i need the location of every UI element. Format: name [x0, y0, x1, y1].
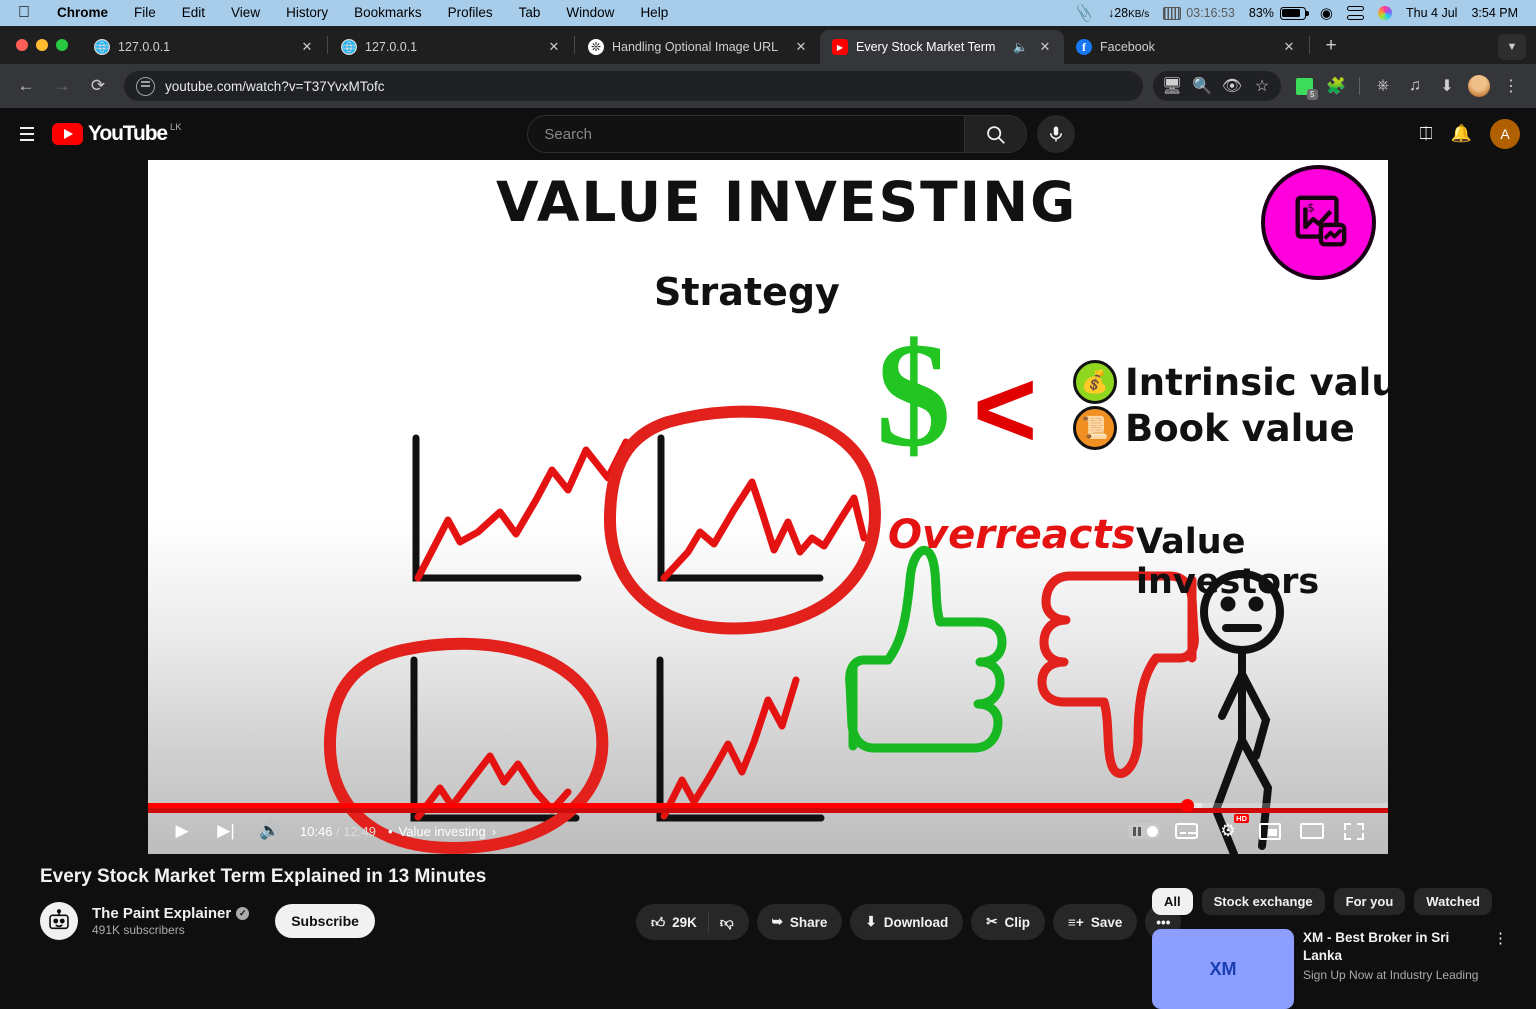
subscriber-count: 491K subscribers [92, 923, 249, 937]
clip-label: Clip [1005, 915, 1031, 930]
close-window-button[interactable] [16, 39, 28, 51]
toolbar-divider [1359, 77, 1360, 95]
profile-avatar[interactable] [1464, 71, 1494, 101]
close-icon[interactable]: ✕ [1036, 38, 1054, 56]
energy-saver-icon[interactable]: ⎈ [1368, 71, 1398, 101]
downloads-icon[interactable]: ⬇ [1432, 71, 1462, 101]
chatgpt-icon: ❊ [588, 39, 604, 55]
menu-help[interactable]: Help [627, 0, 681, 26]
time-separator: / [336, 824, 340, 839]
next-track-icon[interactable]: ▶| [206, 811, 246, 851]
chevron-right-icon: › [492, 824, 496, 839]
total-time: 12:49 [343, 824, 376, 839]
close-icon[interactable]: ✕ [298, 38, 316, 56]
quality-badge: HD [1234, 814, 1249, 823]
play-icon[interactable]: ▶ [162, 811, 202, 851]
theater-mode-icon[interactable] [1292, 811, 1332, 851]
current-time: 10:46 [300, 824, 333, 839]
share-label: Share [790, 915, 828, 930]
cast-to-device-icon[interactable]: 🖥 [1157, 71, 1187, 101]
macos-menubar:  Chrome File Edit View History Bookmark… [0, 0, 1536, 26]
chapter-label: Value investing [399, 824, 486, 839]
video-frame: VALUE INVESTING Strategy $ $ < 💰 Intrins… [148, 160, 1388, 854]
value-investors-label: Value investors [1136, 522, 1388, 602]
menu-bookmarks[interactable]: Bookmarks [341, 0, 435, 26]
omnibox-action-pill: 🖥 🔍 👁 ☆ [1153, 71, 1281, 101]
menu-tab[interactable]: Tab [506, 0, 554, 26]
video-headline: VALUE INVESTING [496, 170, 1077, 234]
extension-badge [1296, 78, 1313, 95]
verified-badge-icon: ✓ [236, 907, 249, 920]
save-button[interactable]: ≡+ Save [1053, 904, 1137, 940]
back-button[interactable]: ← [10, 70, 42, 102]
time-display: 10:46 / 12:49 [300, 824, 376, 839]
volume-icon[interactable]: 🔊 [250, 811, 290, 851]
new-tab-button[interactable]: + [1317, 32, 1345, 60]
tab-title: Handling Optional Image URL [612, 40, 784, 54]
account-avatar[interactable]: A [1490, 119, 1520, 149]
tab-divider [327, 36, 328, 54]
menu-window[interactable]: Window [553, 0, 627, 26]
book-value-label: Book value [1125, 407, 1355, 450]
create-video-icon[interactable]: ⎅ [1419, 124, 1433, 144]
channel-avatar-glyph [46, 908, 72, 934]
menu-view[interactable]: View [218, 0, 273, 26]
tab-search-chevron-down-icon[interactable]: ▼ [1498, 34, 1526, 60]
ad-menu-icon[interactable]: ⋮ [1489, 929, 1512, 1009]
channel-name-row[interactable]: The Paint Explainer ✓ [92, 905, 249, 922]
close-icon[interactable]: ✕ [1280, 38, 1298, 56]
less-than-drawing: < [973, 355, 1037, 465]
tab-audio-icon[interactable]: 🔈 [1013, 40, 1028, 54]
youtube-play-icon [52, 123, 83, 145]
url-text: youtube.com/watch?v=T37YvxMTofc [165, 79, 384, 94]
battery-status[interactable]: 83% [1249, 6, 1306, 20]
download-icon: ⬇ [865, 914, 876, 930]
ledger-book-icon: 📜 [1073, 406, 1117, 450]
search-area [527, 115, 1075, 153]
globe-icon: 🌐 [94, 39, 110, 55]
search-box[interactable] [527, 115, 1027, 153]
save-playlist-icon: ≡+ [1068, 915, 1084, 930]
intrinsic-value-label: Intrinsic value [1125, 361, 1388, 404]
save-label: Save [1091, 915, 1123, 930]
minimize-window-button[interactable] [36, 39, 48, 51]
thumbs-up-icon[interactable]: 👍︎ [651, 914, 665, 931]
chapter-title[interactable]: • Value investing › [388, 824, 496, 839]
tab-127-0-0-1-a[interactable]: 🌐 127.0.0.1 ✕ [82, 30, 326, 64]
share-button[interactable]: ➥ Share [757, 904, 843, 940]
thumbs-up-drawing [850, 550, 1002, 748]
intrinsic-value-row: 💰 Intrinsic value [1073, 360, 1388, 404]
thumbs-down-drawing [1042, 576, 1194, 774]
facebook-icon: f [1076, 39, 1092, 55]
extension-grammarly-icon[interactable] [1289, 71, 1319, 101]
channel-name: The Paint Explainer [92, 905, 231, 922]
siri-icon[interactable] [1378, 6, 1392, 20]
timer-icon [1163, 7, 1181, 20]
chip-for-you[interactable]: For you [1334, 888, 1406, 915]
menu-edit[interactable]: Edit [169, 0, 218, 26]
chapter-bullet: • [388, 824, 393, 839]
menu-file[interactable]: File [121, 0, 169, 26]
tab-title: Every Stock Market Term [856, 40, 1005, 54]
gear-icon[interactable]: ⚙HD [1208, 811, 1248, 851]
screen-timer[interactable]: 03:16:53 [1163, 6, 1235, 20]
maximize-window-button[interactable] [56, 39, 68, 51]
autoplay-toggle[interactable] [1124, 811, 1164, 851]
country-code: LK [170, 122, 182, 133]
reload-button[interactable]: ⟳ [82, 70, 114, 102]
menu-history[interactable]: History [273, 0, 341, 26]
tab-handling-optional-image-url[interactable]: ❊ Handling Optional Image URL ✕ [576, 30, 820, 64]
ad-title: XM - Best Broker in Sri Lanka [1303, 929, 1480, 964]
youtube-logo[interactable]: YouTube LK [52, 122, 184, 146]
wifi-icon[interactable]: ◉︎ [1320, 4, 1333, 22]
guide-menu-button[interactable] [16, 119, 38, 149]
video-player[interactable]: VALUE INVESTING Strategy $ $ < 💰 Intrins… [148, 160, 1388, 854]
svg-text:$: $ [1307, 200, 1314, 214]
tab-divider [1309, 36, 1310, 54]
video-stage: VALUE INVESTING Strategy $ $ < 💰 Intrins… [0, 160, 1536, 854]
control-center-icon[interactable] [1347, 6, 1364, 20]
channel-info: The Paint Explainer ✓ 491K subscribers [92, 905, 249, 937]
scissors-icon: ✂ [986, 914, 997, 930]
youtube-wordmark: YouTube [88, 122, 167, 146]
address-bar[interactable]: youtube.com/watch?v=T37YvxMTofc [124, 71, 1143, 101]
toolbar-actions: 🖥 🔍 👁 ☆ 🧩 ⎈ ♫ ⬇ ⋮ [1153, 71, 1526, 101]
tab-127-0-0-1-b[interactable]: 🌐 127.0.0.1 ✕ [329, 30, 573, 64]
tab-facebook[interactable]: f Facebook ✕ [1064, 30, 1308, 64]
badge-glyph: $ [1288, 192, 1350, 254]
window-controls [12, 26, 82, 64]
youtube-masthead: YouTube LK ⎅ 🔔 A [0, 108, 1536, 160]
tab-divider [574, 36, 575, 54]
tab-title: Facebook [1100, 40, 1272, 54]
network-speed[interactable]: ↓28KB/s [1108, 6, 1149, 20]
ad-thumbnail[interactable]: XM [1152, 929, 1294, 1009]
media-playlist-icon[interactable]: ♫ [1400, 71, 1430, 101]
robot-tv-icon[interactable] [40, 902, 78, 940]
dollar-sign-drawing: $ [876, 320, 951, 470]
book-value-row: 📜 Book value [1073, 406, 1355, 450]
site-settings-icon[interactable] [136, 77, 155, 96]
tab-list: 🌐 127.0.0.1 ✕ 🌐 127.0.0.1 ✕ ❊ Handling O… [82, 26, 1498, 64]
menubar-date[interactable]: Thu 4 Jul [1406, 6, 1457, 20]
close-icon[interactable]: ✕ [545, 38, 563, 56]
player-controls: ▶ ▶| 🔊 10:46 / 12:49 • Value investing ›… [148, 808, 1388, 854]
close-icon[interactable]: ✕ [792, 38, 810, 56]
stock-chart-icon: $ [1261, 165, 1376, 280]
subscribe-button[interactable]: Subscribe [275, 904, 375, 938]
notifications-bell-icon[interactable]: 🔔 [1451, 124, 1472, 144]
chrome-tab-strip: 🌐 127.0.0.1 ✕ 🌐 127.0.0.1 ✕ ❊ Handling O… [0, 26, 1536, 64]
search-input[interactable] [528, 126, 964, 143]
tab-title: 127.0.0.1 [365, 40, 537, 54]
overreacts-label: Overreacts [888, 512, 1135, 558]
thumbs-down-icon[interactable]: 👎︎ [720, 914, 734, 931]
chrome-menu-icon[interactable]: ⋮ [1496, 71, 1526, 101]
money-hand-icon: 💰 [1073, 360, 1117, 404]
closed-captions-icon[interactable] [1166, 811, 1206, 851]
like-count: 29K [672, 915, 697, 930]
eye-off-incognito-icon[interactable]: 👁 [1217, 71, 1247, 101]
search-button[interactable] [964, 116, 1026, 152]
clip-button[interactable]: ✂ Clip [971, 904, 1045, 940]
filter-chips: All Stock exchange For you Watched [1152, 888, 1512, 915]
page-title: Every Stock Market Term Explained in 13 … [40, 866, 1090, 888]
menu-profiles[interactable]: Profiles [435, 0, 506, 26]
recommendations-rail: All Stock exchange For you Watched XM XM… [1136, 888, 1536, 1009]
paperclip-icon[interactable]: 📎 [1074, 2, 1096, 23]
masthead-actions: ⎅ 🔔 A [1419, 119, 1520, 149]
share-arrow-icon: ➥ [772, 914, 783, 930]
like-dislike-group: 👍︎ 29K 👎︎ [636, 904, 749, 940]
globe-icon: 🌐 [341, 39, 357, 55]
download-label: Download [884, 915, 949, 930]
menubar-items:  Chrome File Edit View History Bookmark… [12, 0, 681, 26]
chip-stock-exchange[interactable]: Stock exchange [1202, 888, 1325, 915]
battery-icon [1280, 7, 1306, 20]
video-subheadline: Strategy [654, 270, 840, 314]
youtube-icon: ▶ [832, 39, 848, 55]
chrome-toolbar: ← → ⟳ youtube.com/watch?v=T37YvxMTofc 🖥 … [0, 64, 1536, 108]
tab-every-stock-market-term[interactable]: ▶ Every Stock Market Term 🔈 ✕ [820, 30, 1064, 64]
voice-search-button[interactable] [1037, 115, 1075, 153]
fullscreen-icon[interactable] [1334, 811, 1374, 851]
apple-logo-icon[interactable]:  [12, 1, 44, 25]
menubar-clock[interactable]: 3:54 PM [1471, 6, 1518, 20]
avatar [1468, 75, 1490, 97]
download-button[interactable]: ⬇ Download [850, 904, 963, 940]
menubar-status-items: 📎 ↓28KB/s 03:16:53 83% ◉︎ Thu 4 Jul 3:54… [1075, 4, 1524, 22]
sponsored-ad-item[interactable]: XM XM - Best Broker in Sri Lanka Sign Up… [1152, 929, 1512, 1009]
group-divider [708, 911, 709, 933]
miniplayer-icon[interactable] [1250, 811, 1290, 851]
zoom-out-search-icon[interactable]: 🔍 [1187, 71, 1217, 101]
bookmark-star-icon[interactable]: ☆ [1247, 71, 1277, 101]
chip-all[interactable]: All [1152, 888, 1193, 915]
whiteboard-drawing [148, 160, 1388, 854]
chart-lines [418, 442, 864, 817]
forward-button[interactable]: → [46, 70, 78, 102]
tab-title: 127.0.0.1 [118, 40, 290, 54]
ad-text-block: XM - Best Broker in Sri Lanka Sign Up No… [1303, 929, 1480, 1009]
ad-subtitle: Sign Up Now at Industry Leading [1303, 968, 1480, 982]
extensions-puzzle-icon[interactable]: 🧩 [1321, 71, 1351, 101]
player-controls-right: ⚙HD [1124, 811, 1374, 851]
tab-strip-right: ▼ [1498, 34, 1536, 64]
menu-chrome[interactable]: Chrome [44, 0, 121, 26]
chip-watched[interactable]: Watched [1414, 888, 1492, 915]
video-action-buttons: 👍︎ 29K 👎︎ ➥ Share ⬇ Download ✂ Clip ≡+ S… [636, 904, 1181, 940]
